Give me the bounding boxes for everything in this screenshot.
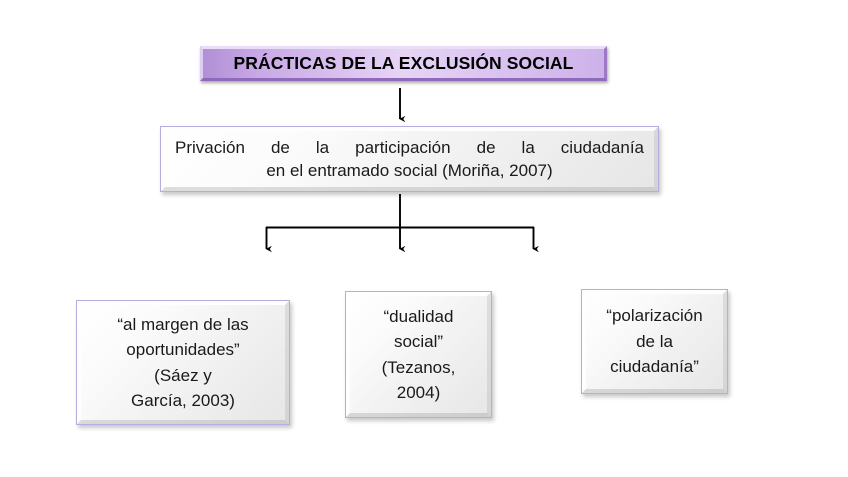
term-box-2: “dualidad social” (Tezanos, 2004) xyxy=(345,291,492,418)
term-3-line-2: de la xyxy=(592,329,717,355)
term-1-line-3: (Sáez y xyxy=(87,363,279,389)
term-1-line-4: García, 2003) xyxy=(87,388,279,414)
term-box-3-text: “polarización de la ciudadanía” xyxy=(582,303,727,380)
term-box-2-text: “dualidad social” (Tezanos, 2004) xyxy=(346,304,491,406)
term-1-line-1: “al margen de las xyxy=(87,312,279,338)
term-box-3: “polarización de la ciudadanía” xyxy=(581,289,728,394)
title-banner-label: PRÁCTICAS DE LA EXCLUSIÓN SOCIAL xyxy=(234,53,574,74)
title-banner: PRÁCTICAS DE LA EXCLUSIÓN SOCIAL xyxy=(200,46,607,81)
term-2-line-3: (Tezanos, xyxy=(356,355,481,381)
term-1-line-2: oportunidades” xyxy=(87,337,279,363)
diagram-canvas: PRÁCTICAS DE LA EXCLUSIÓN SOCIAL xyxy=(0,0,848,477)
definition-box: Privación de la participación de la ciud… xyxy=(160,126,659,192)
term-box-1-text: “al margen de las oportunidades” (Sáez y… xyxy=(77,312,289,414)
term-2-line-1: “dualidad xyxy=(356,304,481,330)
term-2-line-4: 2004) xyxy=(356,380,481,406)
term-3-line-1: “polarización xyxy=(592,303,717,329)
term-3-line-3: ciudadanía” xyxy=(592,354,717,380)
term-box-1: “al margen de las oportunidades” (Sáez y… xyxy=(76,300,290,425)
term-2-line-2: social” xyxy=(356,329,481,355)
definition-line-2: en el entramado social (Moriña, 2007) xyxy=(175,159,644,182)
definition-line-1: Privación de la participación de la ciud… xyxy=(175,136,644,159)
